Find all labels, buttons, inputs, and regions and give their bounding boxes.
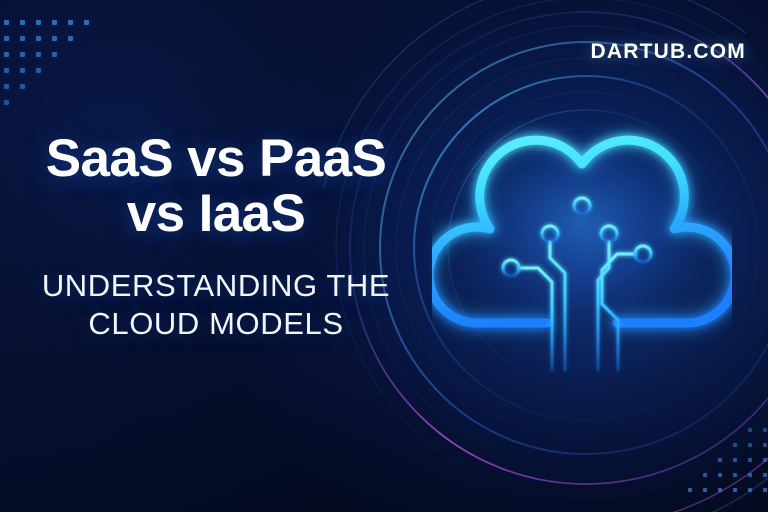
decorative-dot — [718, 488, 722, 492]
decorative-dot — [763, 488, 767, 492]
decorative-dot — [763, 473, 767, 477]
circuit-node-far-left — [503, 260, 519, 276]
circuit-node-far-right — [635, 246, 651, 262]
page-subtitle-line-1: UNDERSTANDING THE — [0, 267, 432, 305]
decorative-dot — [748, 443, 752, 447]
decorative-dot — [20, 84, 25, 89]
decorative-dot — [703, 488, 707, 492]
dot-matrix-top-left — [0, 20, 90, 110]
decorative-dot — [4, 68, 9, 73]
decorative-dot — [733, 488, 737, 492]
page-subtitle: UNDERSTANDING THE CLOUD MODELS — [0, 267, 432, 343]
page-title: SaaS vs PaaS vs IaaS — [0, 132, 432, 241]
title-block: SaaS vs PaaS vs IaaS UNDERSTANDING THE C… — [0, 132, 432, 343]
decorative-dot — [688, 488, 692, 492]
decorative-dot — [748, 473, 752, 477]
page-title-line-1: SaaS vs PaaS — [0, 132, 432, 187]
poster-canvas: DARTUB.COM SaaS vs PaaS vs IaaS UNDERSTA… — [0, 0, 768, 512]
decorative-dot — [703, 473, 707, 477]
decorative-dot — [733, 473, 737, 477]
decorative-dot — [748, 488, 752, 492]
circuit-node-mid-left — [542, 226, 558, 242]
decorative-dot — [36, 68, 41, 73]
decorative-dot — [748, 458, 752, 462]
decorative-dot — [718, 473, 722, 477]
decorative-dot — [763, 428, 767, 432]
decorative-dot — [733, 458, 737, 462]
decorative-dot — [4, 100, 9, 105]
dot-matrix-bottom-right — [688, 428, 768, 512]
decorative-dot — [36, 20, 41, 25]
circuit-node-mid-right — [601, 226, 617, 242]
decorative-dot — [4, 84, 9, 89]
decorative-dot — [748, 428, 752, 432]
decorative-dot — [4, 20, 9, 25]
decorative-dot — [763, 443, 767, 447]
decorative-dot — [20, 20, 25, 25]
decorative-dot — [763, 458, 767, 462]
cloud-circuit-icon — [432, 118, 732, 378]
decorative-dot — [733, 443, 737, 447]
page-title-line-2: vs IaaS — [0, 187, 432, 242]
circuit-node-top-center — [574, 198, 590, 214]
decorative-dot — [52, 20, 57, 25]
decorative-dot — [68, 20, 73, 25]
decorative-dot — [84, 20, 89, 25]
brand-watermark: DARTUB.COM — [0, 40, 746, 64]
decorative-dot — [20, 68, 25, 73]
decorative-dot — [718, 458, 722, 462]
page-subtitle-line-2: CLOUD MODELS — [0, 305, 432, 343]
